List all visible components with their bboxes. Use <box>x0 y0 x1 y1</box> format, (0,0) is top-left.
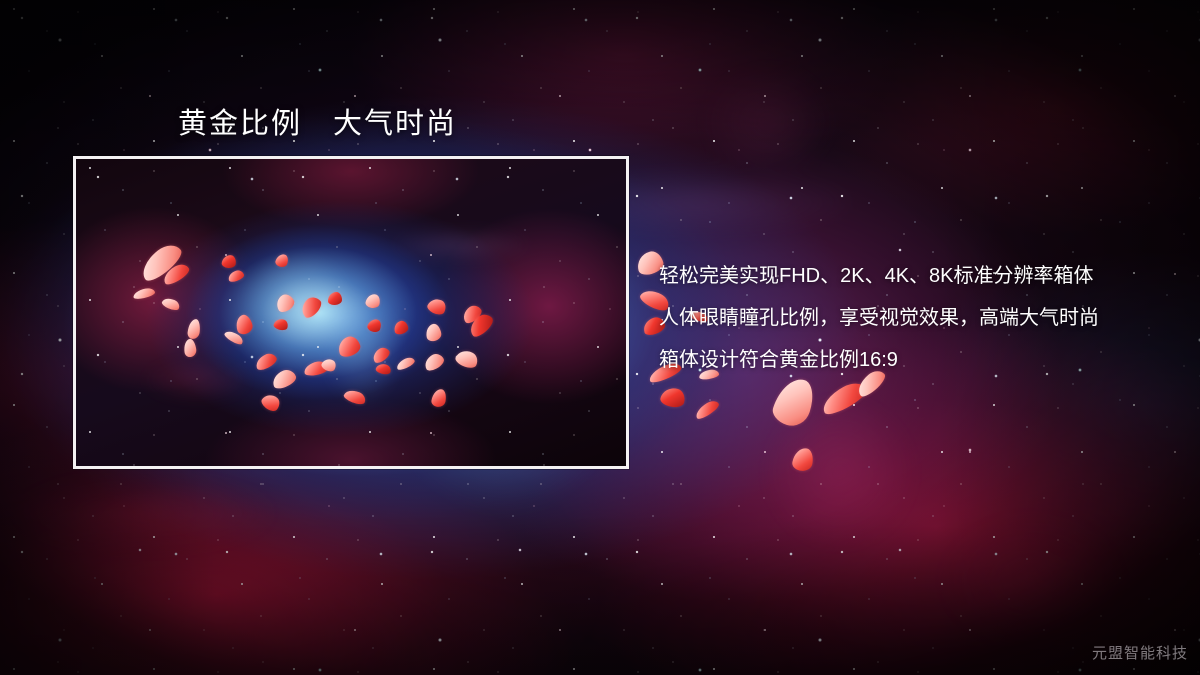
body-copy: 轻松完美实现FHD、2K、4K、8K标准分辨率箱体 人体眼睛瞳孔比例，享受视觉效… <box>659 255 1129 381</box>
petal <box>328 292 342 305</box>
photo-wisp-layer <box>76 159 626 466</box>
petal <box>769 374 818 431</box>
body-line-3: 箱体设计符合黄金比例16:9 <box>659 339 1129 381</box>
petal <box>791 446 815 472</box>
framed-photo[interactable] <box>73 156 629 469</box>
petal <box>693 398 721 421</box>
body-line-2: 人体眼睛瞳孔比例，享受视觉效果，高端大气时尚 <box>659 297 1129 339</box>
page-title: 黄金比例 大气时尚 <box>178 100 457 142</box>
presentation-slide: 黄金比例 大气时尚 轻松完美实现FHD、2K、4K、8K标准分辨率箱体 人体眼睛… <box>0 0 1200 675</box>
body-line-1: 轻松完美实现FHD、2K、4K、8K标准分辨率箱体 <box>659 255 1129 297</box>
watermark: 元盟智能科技 <box>1092 642 1188 663</box>
photo-content <box>76 159 626 466</box>
petal <box>659 385 687 409</box>
